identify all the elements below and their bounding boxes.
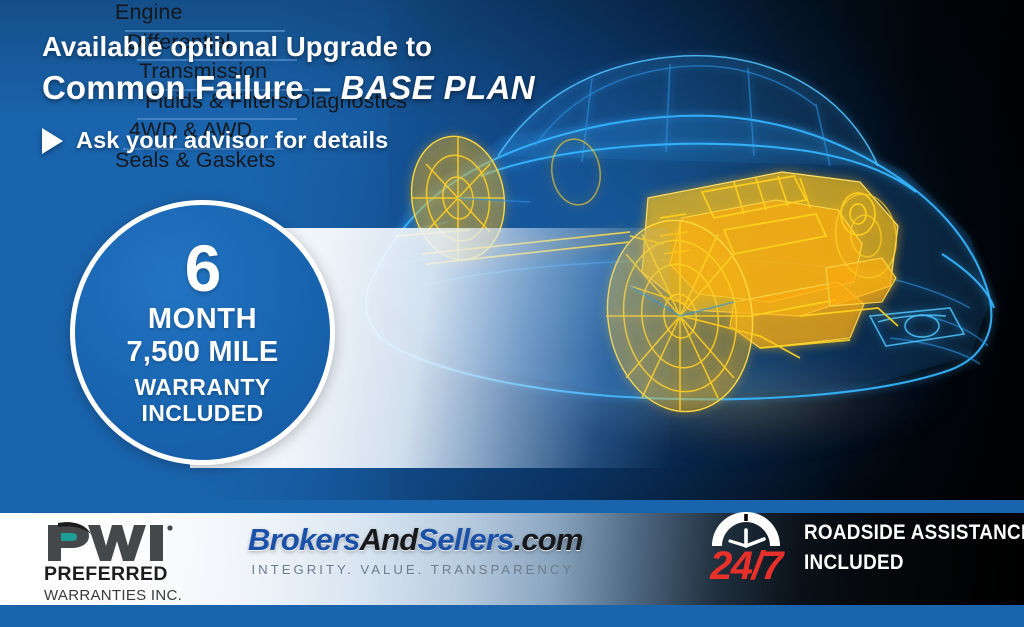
headline-line-2: Common Failure – BASE PLAN	[42, 70, 535, 106]
brokersandsellers-logo[interactable]: BrokersAndSellers.com INTEGRITY. VALUE. …	[248, 524, 583, 577]
badge-month: MONTH	[148, 303, 257, 335]
roadside-text-group: ROADSIDE ASSISTANCE INCLUDED	[804, 508, 1024, 573]
cta-text: Ask your advisor for details	[76, 127, 388, 154]
footer-blue-bar-bottom	[0, 605, 1024, 627]
warranty-ad-banner: Available optional Upgrade to Common Fai…	[0, 0, 1024, 627]
roadside-clock-group: 24/7	[700, 508, 792, 583]
pwi-wordmark	[44, 520, 204, 564]
badge-included: INCLUDED	[141, 400, 263, 426]
badge-number: 6	[185, 238, 221, 299]
brokers-part-2: And	[360, 522, 418, 557]
pwi-line-1: PREFERRED	[44, 565, 204, 585]
list-item: Engine	[115, 2, 475, 30]
headline-block: Available optional Upgrade to Common Fai…	[42, 32, 535, 154]
pwi-logo: PREFERRED WARRANTIES INC.	[44, 520, 204, 600]
brokers-tagline: INTEGRITY. VALUE. TRANSPARENCY.	[248, 562, 583, 577]
pwi-line-2: WARRANTIES INC.	[44, 588, 204, 603]
roadside-hours: 24/7	[710, 549, 782, 583]
headline-prefix: Common Failure –	[42, 69, 341, 106]
pwi-mark-svg	[44, 520, 204, 564]
brokers-part-1: Brokers	[248, 522, 360, 557]
brokers-wordmark: BrokersAndSellers.com	[248, 524, 583, 555]
roadside-assistance-block: 24/7 ROADSIDE ASSISTANCE INCLUDED	[700, 508, 1024, 583]
headline-plan-name: BASE PLAN	[341, 69, 535, 106]
cta-row[interactable]: Ask your advisor for details	[42, 127, 535, 154]
headline-line-1: Available optional Upgrade to	[42, 32, 535, 63]
roadside-line-1: ROADSIDE ASSISTANCE	[804, 522, 1024, 543]
badge-warranty: WARRANTY	[134, 374, 270, 400]
brokers-part-4: .com	[514, 522, 583, 557]
brokers-part-3: Sellers	[417, 522, 513, 557]
warranty-badge: 6 MONTH 7,500 MILE WARRANTY INCLUDED	[70, 200, 335, 465]
badge-mileage: 7,500 MILE	[127, 336, 279, 368]
play-triangle-icon	[42, 128, 63, 154]
roadside-line-2: INCLUDED	[804, 552, 1024, 573]
